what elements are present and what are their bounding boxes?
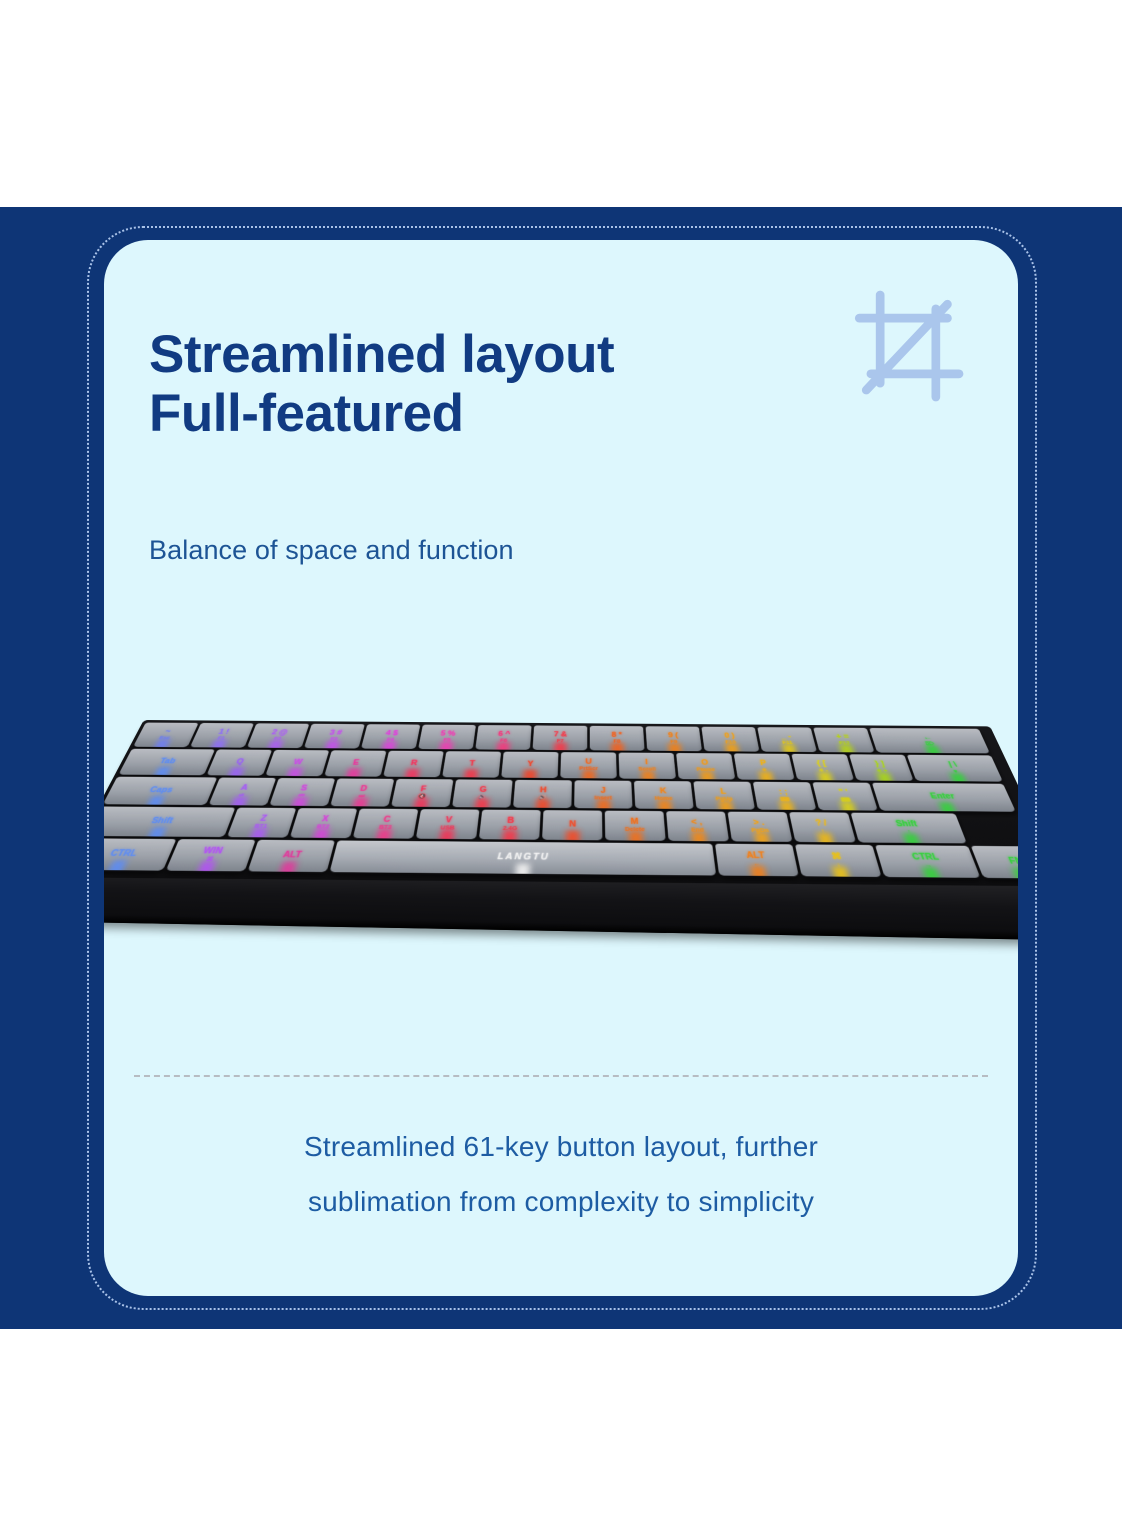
keycap-primary-label: D bbox=[359, 785, 367, 793]
keycap-backlight bbox=[227, 796, 247, 805]
keycap: 6 ^F6 bbox=[475, 725, 531, 750]
keycap-backlight bbox=[224, 767, 244, 776]
footer-line-2: sublimation from complexity to simplicit… bbox=[104, 1175, 1018, 1230]
keycap: 0 )F10 bbox=[701, 727, 759, 752]
keycap-primary-label: ALT bbox=[282, 851, 303, 860]
keycap-backlight bbox=[322, 740, 339, 748]
keycap: 2 @F2 bbox=[247, 723, 309, 748]
keycap: KHome bbox=[634, 781, 694, 809]
keycap: ZBT1 bbox=[227, 808, 296, 838]
keycap: : ;⌨ bbox=[753, 782, 817, 810]
keycap: > .PgDn bbox=[728, 812, 793, 842]
keycap-backlight bbox=[840, 801, 859, 810]
keycap: Y bbox=[501, 752, 558, 778]
keycap-primary-label: 6 ^ bbox=[498, 731, 511, 738]
keycap: R bbox=[383, 751, 444, 777]
keycap-backlight bbox=[782, 744, 798, 752]
keycap: WIN⌘ bbox=[166, 839, 256, 871]
keycap: ←⌦ bbox=[869, 728, 990, 753]
keycap-primary-label: 1 ! bbox=[217, 729, 230, 736]
keycap: A⏯ bbox=[209, 778, 277, 806]
keycap-backlight bbox=[310, 828, 329, 838]
keycap-primary-label: Shift bbox=[150, 817, 174, 825]
keycap-backlight bbox=[522, 769, 536, 778]
keycap: T bbox=[442, 751, 501, 777]
keycap-primary-label: H bbox=[540, 787, 547, 795]
keycap-primary-label: A bbox=[239, 785, 248, 793]
headline-line-1: Streamlined layout bbox=[149, 325, 614, 384]
keycap-primary-label: 3 # bbox=[329, 730, 343, 737]
keycap-backlight bbox=[463, 769, 478, 778]
keycap: JInsert bbox=[574, 780, 632, 808]
keycap: 5 %F5 bbox=[418, 725, 476, 750]
keycap: 1 !F1 bbox=[190, 723, 254, 748]
keycap: | \♥ bbox=[907, 755, 1003, 782]
keycap-backlight bbox=[149, 739, 170, 747]
keycap: 3 #F3 bbox=[304, 724, 365, 749]
keycap-backlight bbox=[437, 829, 454, 839]
keycap-backlight bbox=[750, 866, 768, 877]
keyboard-keyplate: ~Esc1 !F12 @F23 #F34 $F45 %F56 ^F67 &F78… bbox=[104, 720, 1018, 886]
keycap: Caps bbox=[104, 777, 217, 805]
keycap-primary-label: + = bbox=[835, 734, 849, 741]
keycap-primary-label: Shift bbox=[895, 820, 919, 828]
keycap-backlight bbox=[582, 770, 595, 779]
keycap-primary-label: WIN bbox=[202, 847, 224, 856]
keycap-backlight bbox=[938, 802, 959, 812]
keycap: Q bbox=[207, 749, 273, 775]
footer-description: Streamlined 61-key button layout, furthe… bbox=[104, 1120, 1018, 1229]
keycap-backlight bbox=[657, 800, 672, 809]
keycap-primary-label: 7 & bbox=[554, 732, 568, 739]
keycap-backlight bbox=[207, 740, 226, 748]
keycap: + =F12 bbox=[813, 728, 874, 753]
product-feature-page: Streamlined layout Full-featured Balance… bbox=[0, 0, 1122, 1537]
keycap-backlight bbox=[565, 830, 579, 840]
keycap-backlight bbox=[289, 797, 308, 806]
keycap: VUSB bbox=[416, 809, 480, 839]
keycap-primary-label: FN bbox=[1008, 857, 1018, 866]
keycap-primary-label: } ] bbox=[874, 761, 885, 768]
keycap: IScroll bbox=[619, 753, 676, 779]
keycap-primary-label: R bbox=[410, 760, 418, 767]
keycap-primary-label: ← bbox=[922, 734, 933, 741]
keycap-backlight bbox=[412, 798, 429, 807]
keycap-primary-label: S bbox=[299, 785, 307, 793]
keycap: Shift bbox=[104, 806, 235, 837]
keycap-primary-label: ? / bbox=[815, 820, 828, 828]
keycap-primary-label: 9 ( bbox=[668, 732, 679, 739]
keycap-backlight bbox=[403, 769, 419, 778]
keycap-backlight bbox=[284, 768, 303, 777]
keycap-primary-label: Z bbox=[259, 815, 268, 823]
keycap-backlight bbox=[143, 796, 165, 805]
keycap: OPause bbox=[676, 753, 735, 780]
keycap: Shift↑ bbox=[851, 813, 967, 844]
keycap-backlight bbox=[922, 867, 944, 878]
keycap-primary-label: " ' bbox=[838, 789, 849, 797]
keycap-backlight bbox=[779, 801, 796, 810]
subtitle: Balance of space and function bbox=[149, 535, 514, 566]
keycap-backlight bbox=[691, 831, 707, 841]
keycap: 9 (F9 bbox=[646, 726, 702, 751]
keycap: P☀ bbox=[734, 753, 795, 780]
keycap-primary-label: W bbox=[292, 759, 303, 766]
keycap: CTRL→ bbox=[875, 845, 980, 878]
keycap-backlight bbox=[832, 866, 852, 877]
keycap-primary-label: J bbox=[601, 787, 606, 795]
keycap: " '⌨ bbox=[812, 782, 878, 810]
keycap-backlight bbox=[265, 740, 283, 748]
keycap-primary-label: G bbox=[479, 786, 487, 794]
keycap-backlight bbox=[374, 829, 392, 839]
keycap-primary-label: C bbox=[382, 816, 391, 824]
keycap-primary-label: 4 $ bbox=[385, 730, 398, 737]
keycap-primary-label: E bbox=[352, 760, 360, 767]
keycap-primary-label: CTRL bbox=[911, 853, 940, 862]
keycap-primary-label: 0 ) bbox=[724, 733, 735, 740]
keycap: E bbox=[324, 750, 386, 776]
keycap-primary-label: : ; bbox=[778, 789, 788, 797]
keycap-primary-label: I bbox=[645, 759, 648, 766]
keycap-backlight bbox=[611, 743, 624, 751]
keycap: UPrtScr bbox=[560, 752, 616, 778]
keycap-backlight bbox=[535, 799, 549, 808]
keycap-primary-label: CTRL bbox=[108, 850, 138, 859]
keycap-primary-label: ALT bbox=[746, 852, 766, 861]
keycap-backlight bbox=[194, 861, 216, 872]
keycap: S⏮ bbox=[269, 778, 335, 806]
keycap-backlight bbox=[143, 827, 166, 837]
keycap-primary-label: ~ bbox=[163, 729, 171, 736]
section-divider bbox=[134, 1075, 988, 1077]
keycap: LANGTU bbox=[330, 840, 717, 875]
keycap-primary-label: { [ bbox=[816, 761, 827, 768]
keycap: 8 *F8 bbox=[590, 726, 645, 751]
keycap-primary-label: U bbox=[585, 759, 591, 766]
keycap: H🔊 bbox=[513, 780, 572, 808]
keycap: ⌘↓ bbox=[795, 844, 882, 877]
keycap-primary-label: M bbox=[630, 818, 638, 826]
keycap-backlight bbox=[496, 742, 510, 750]
keycap-backlight bbox=[628, 831, 642, 841]
keycap-backlight bbox=[553, 742, 566, 750]
keycap: < ,End bbox=[666, 811, 729, 841]
keycap-backlight bbox=[641, 770, 655, 779]
keycap-backlight bbox=[903, 833, 924, 843]
keycap: { [☀ - bbox=[791, 754, 854, 781]
keycap-backlight bbox=[817, 772, 834, 781]
keycap-primary-label: V bbox=[445, 817, 452, 825]
keycap-backlight bbox=[501, 830, 516, 840]
keycap-backlight bbox=[725, 743, 740, 751]
keycap-backlight bbox=[104, 860, 127, 871]
keycap-backlight bbox=[668, 743, 682, 751]
keycap-backlight bbox=[343, 768, 360, 777]
keycap-primary-label: T bbox=[469, 761, 475, 768]
keycap-primary-label: > . bbox=[753, 819, 765, 827]
keycap-primary-label: _ - bbox=[780, 733, 792, 740]
keycap-backlight bbox=[380, 741, 396, 749]
keycap: XBT2 bbox=[290, 808, 357, 838]
keyboard-image: ~Esc1 !F12 @F23 #F34 $F45 %F56 ^F67 &F78… bbox=[104, 665, 1018, 970]
headline-line-2: Full-featured bbox=[149, 384, 849, 443]
crop-icon bbox=[842, 288, 974, 404]
keycap-primary-label: P bbox=[760, 760, 767, 767]
keycap-primary-label: ⌘ bbox=[831, 853, 843, 862]
keycap: F🔇 bbox=[391, 779, 453, 807]
keycap: D⏭ bbox=[330, 778, 394, 806]
keycap: 4 $F4 bbox=[361, 724, 420, 749]
keycap: MDelete bbox=[605, 811, 666, 841]
keycap: Enter bbox=[872, 783, 1016, 812]
keycap-backlight bbox=[876, 772, 895, 781]
keycap-primary-label: K bbox=[660, 788, 667, 796]
keycap: ~Esc bbox=[133, 723, 199, 748]
keycap-backlight bbox=[758, 771, 774, 780]
keycap-primary-label: 8 * bbox=[611, 732, 622, 739]
footer-line-1: Streamlined 61-key button layout, furthe… bbox=[104, 1120, 1018, 1175]
keycap: 7 &F7 bbox=[533, 725, 588, 750]
feature-card: Streamlined layout Full-featured Balance… bbox=[104, 240, 1018, 1296]
keycap-backlight bbox=[438, 741, 453, 749]
keycap: LPgUp bbox=[693, 781, 755, 809]
keycap-primary-label: Caps bbox=[148, 787, 174, 795]
keycap-backlight bbox=[817, 833, 836, 843]
keycap-primary-label: F bbox=[420, 786, 427, 794]
keycap-primary-label: < , bbox=[691, 819, 703, 827]
keycap: Tab bbox=[118, 749, 215, 776]
keycap-primary-label: 5 % bbox=[440, 731, 456, 738]
keycap: G🔉 bbox=[452, 779, 513, 807]
keycap-backlight bbox=[515, 864, 530, 876]
keycap-primary-label: O bbox=[701, 760, 709, 767]
keycap-primary-label: 2 @ bbox=[271, 730, 289, 737]
keycap-backlight bbox=[950, 773, 970, 782]
keycap-primary-label: Enter bbox=[930, 793, 956, 801]
keycap-primary-label: B bbox=[507, 817, 514, 825]
keycap-backlight bbox=[246, 828, 267, 838]
keycap-backlight bbox=[473, 798, 488, 807]
keycap-backlight bbox=[150, 767, 171, 776]
keycap-backlight bbox=[839, 744, 856, 752]
keycap: N bbox=[542, 810, 602, 840]
keycap-primary-label: X bbox=[321, 816, 330, 824]
keycap-primary-label: Tab bbox=[158, 758, 176, 765]
keycap-primary-label: N bbox=[569, 821, 576, 829]
keycap-backlight bbox=[276, 861, 297, 872]
keycap-primary-label: Y bbox=[527, 761, 533, 768]
keycap: ALT bbox=[248, 840, 335, 872]
keycap-backlight bbox=[350, 797, 368, 806]
keycap-primary-label: Q bbox=[235, 759, 245, 766]
keycap-primary-label: L bbox=[720, 788, 727, 796]
keycap: ? /↑ bbox=[789, 812, 856, 842]
keycap-backlight bbox=[924, 745, 943, 753]
keycap: W bbox=[265, 750, 329, 776]
keycap-backlight bbox=[1012, 868, 1018, 879]
keycap-backlight bbox=[597, 799, 610, 808]
keycap: B2.4G bbox=[479, 810, 541, 840]
keycap-primary-label: | \ bbox=[948, 762, 958, 769]
keycap: ALT← bbox=[715, 844, 799, 877]
keycap-backlight bbox=[700, 771, 715, 780]
keycap-primary-label: LANGTU bbox=[497, 853, 550, 862]
keycap: _ -F11 bbox=[757, 727, 817, 752]
keycap: } ]☀ + bbox=[849, 754, 914, 781]
keycap: CBT3 bbox=[353, 809, 419, 839]
page-title: Streamlined layout Full-featured bbox=[149, 325, 849, 444]
